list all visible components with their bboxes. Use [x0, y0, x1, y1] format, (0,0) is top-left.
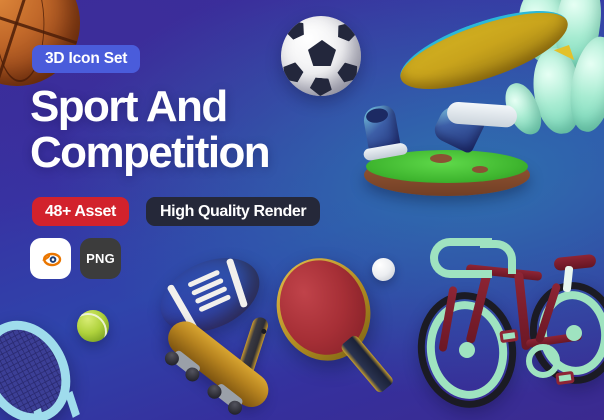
format-chip-row: PNG — [30, 238, 121, 279]
tennis-ball-3d-object — [77, 310, 109, 342]
blender-logo-icon — [38, 246, 64, 272]
bicycle-3d-object — [404, 220, 604, 420]
basketball-3d-object — [0, 0, 80, 86]
ping-pong-ball-3d-object — [372, 258, 395, 281]
badge-asset-count: 48+ Asset — [32, 197, 129, 226]
surfboard-3d-object — [392, 0, 577, 105]
png-chip: PNG — [80, 238, 121, 279]
skateboard-small-3d-object — [232, 315, 270, 390]
badge-3d-icon-set: 3D Icon Set — [32, 45, 140, 73]
skateboard-large-3d-object — [134, 303, 284, 420]
sneaker-left-3d-object — [356, 103, 408, 162]
poster-canvas: 3D Icon Set Sport And Competition 48+ As… — [0, 0, 604, 420]
blender-chip — [30, 238, 71, 279]
american-football-3d-object — [149, 244, 271, 347]
sneaker-right-3d-object — [429, 87, 521, 172]
ping-pong-paddle-3d-object — [261, 242, 406, 417]
sneakers-podium-3d-object — [352, 98, 537, 198]
page-title: Sport And Competition — [30, 84, 360, 176]
page-title-line-2: Competition — [30, 130, 360, 176]
badge-high-quality-render: High Quality Render — [146, 197, 320, 226]
water-splash-3d-object — [464, 0, 604, 138]
tennis-racket-3d-object — [0, 286, 132, 420]
page-title-line-1: Sport And — [30, 82, 227, 131]
